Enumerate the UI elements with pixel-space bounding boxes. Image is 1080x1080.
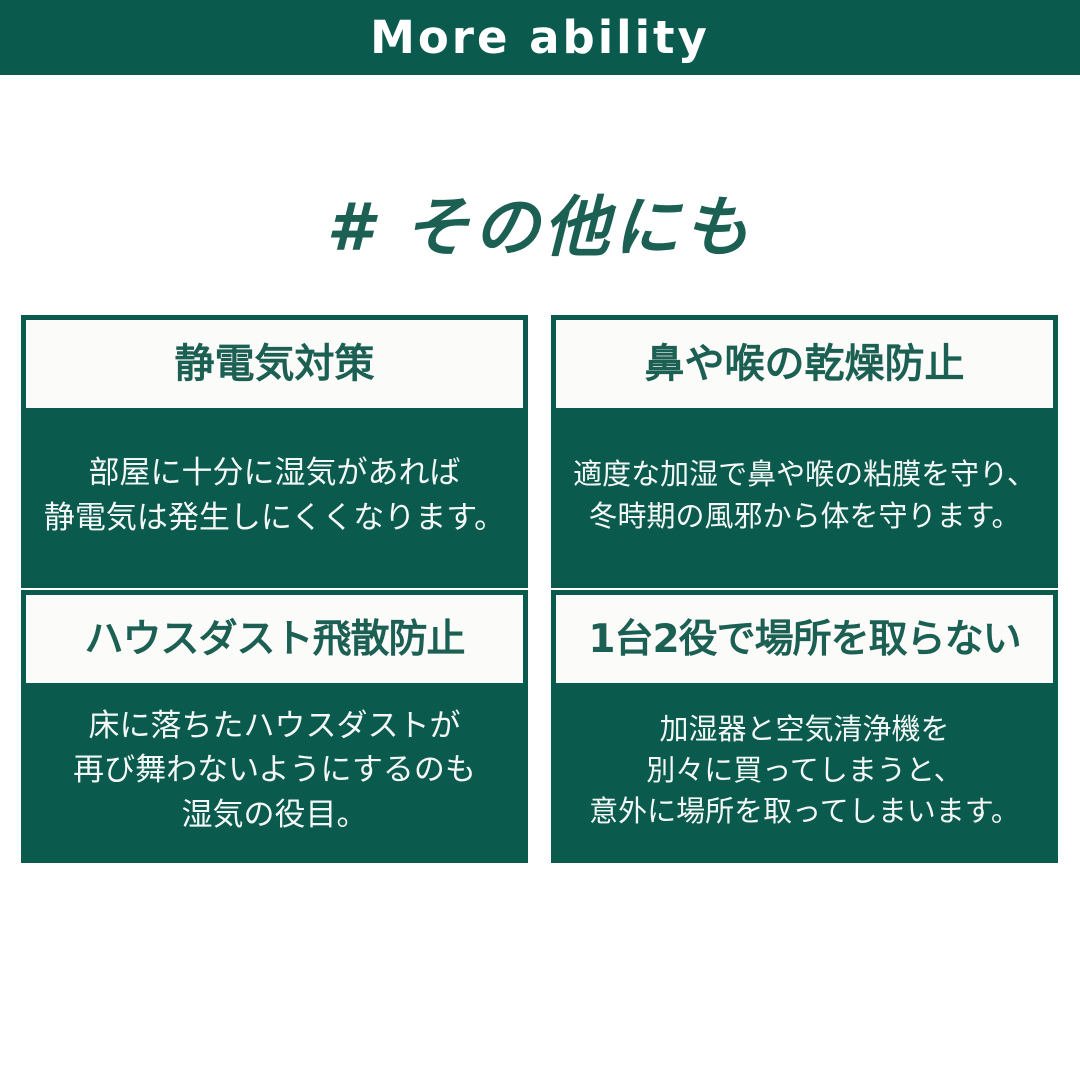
card-body-text: 部屋に十分に湿気があれば 静電気は発生しにくくなります。 [44, 451, 505, 539]
card-body: 加湿器と空気清浄機を 別々に買ってしまうと、 意外に場所を取ってしまいます。 [556, 683, 1053, 858]
card-body: 床に落ちたハウスダストが 再び舞わないようにするのも 湿気の役目。 [26, 683, 523, 858]
card-body-text: 床に落ちたハウスダストが 再び舞わないようにするのも 湿気の役目。 [73, 704, 476, 836]
card-title-band: 鼻や喉の乾燥防止 [556, 320, 1053, 408]
card-title: ハウスダスト飛散防止 [84, 620, 464, 659]
feature-card-grid: 静電気対策 部屋に十分に湿気があれば 静電気は発生しにくくなります。 鼻や喉の乾… [21, 315, 1058, 863]
card-title-band: 静電気対策 [26, 320, 523, 408]
card-title: 1台2役で場所を取らない [588, 620, 1020, 659]
card-body: 適度な加湿で鼻や喉の粘膜を守り、 冬時期の風邪から体を守ります。 [556, 408, 1053, 583]
top-banner: More ability [0, 0, 1080, 75]
feature-card-house-dust: ハウスダスト飛散防止 床に落ちたハウスダストが 再び舞わないようにするのも 湿気… [21, 590, 528, 863]
feature-card-nose-throat-dryness: 鼻や喉の乾燥防止 適度な加湿で鼻や喉の粘膜を守り、 冬時期の風邪から体を守ります… [551, 315, 1058, 588]
card-title: 静電気対策 [175, 344, 375, 384]
banner-title: More ability [370, 15, 710, 60]
card-title: 鼻や喉の乾燥防止 [645, 344, 965, 384]
feature-card-two-in-one-space: 1台2役で場所を取らない 加湿器と空気清浄機を 別々に買ってしまうと、 意外に場… [551, 590, 1058, 863]
card-body: 部屋に十分に湿気があれば 静電気は発生しにくくなります。 [26, 408, 523, 583]
card-body-text: 加湿器と空気清浄機を 別々に買ってしまうと、 意外に場所を取ってしまいます。 [589, 709, 1020, 833]
card-body-text: 適度な加湿で鼻や喉の粘膜を守り、 冬時期の風邪から体を守ります。 [573, 454, 1036, 536]
feature-card-static-electricity: 静電気対策 部屋に十分に湿気があれば 静電気は発生しにくくなります。 [21, 315, 528, 588]
card-title-band: ハウスダスト飛散防止 [26, 595, 523, 683]
section-heading: # その他にも [0, 192, 1080, 265]
card-title-band: 1台2役で場所を取らない [556, 595, 1053, 683]
